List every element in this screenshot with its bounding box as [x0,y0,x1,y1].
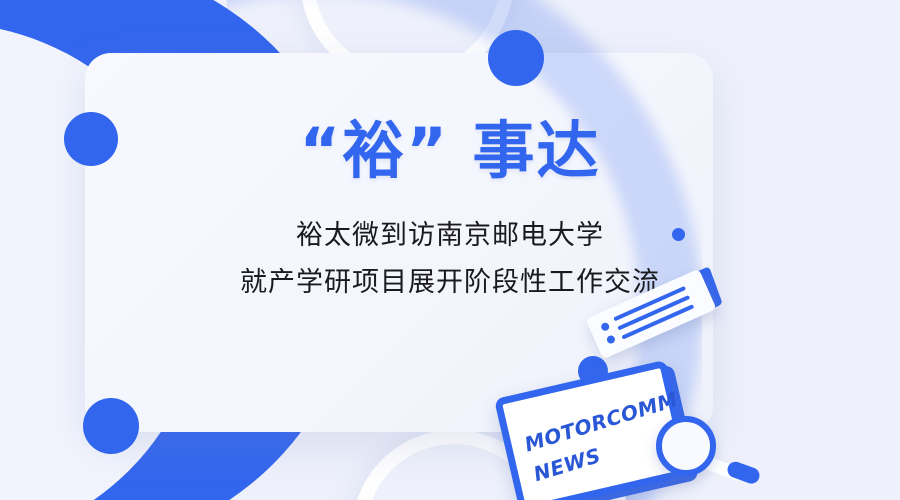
magnifier-icon [656,416,716,476]
document-bullet-icon [606,334,617,345]
subtitle-block: 裕太微到访南京邮电大学 就产学研项目展开阶段性工作交流 [0,212,900,306]
blue-dot-top-center [488,30,544,86]
page-title: “裕” 事达 [0,100,900,190]
subtitle-line-1: 裕太微到访南京邮电大学 [0,212,900,259]
blue-dot-lower-left [83,398,139,454]
subtitle-line-2: 就产学研项目展开阶段性工作交流 [0,259,900,306]
magnifier-lens-decor [656,416,716,476]
banner-canvas: “裕” 事达 裕太微到访南京邮电大学 就产学研项目展开阶段性工作交流 MOTOR… [0,0,900,500]
document-bullet-icon [600,321,611,332]
